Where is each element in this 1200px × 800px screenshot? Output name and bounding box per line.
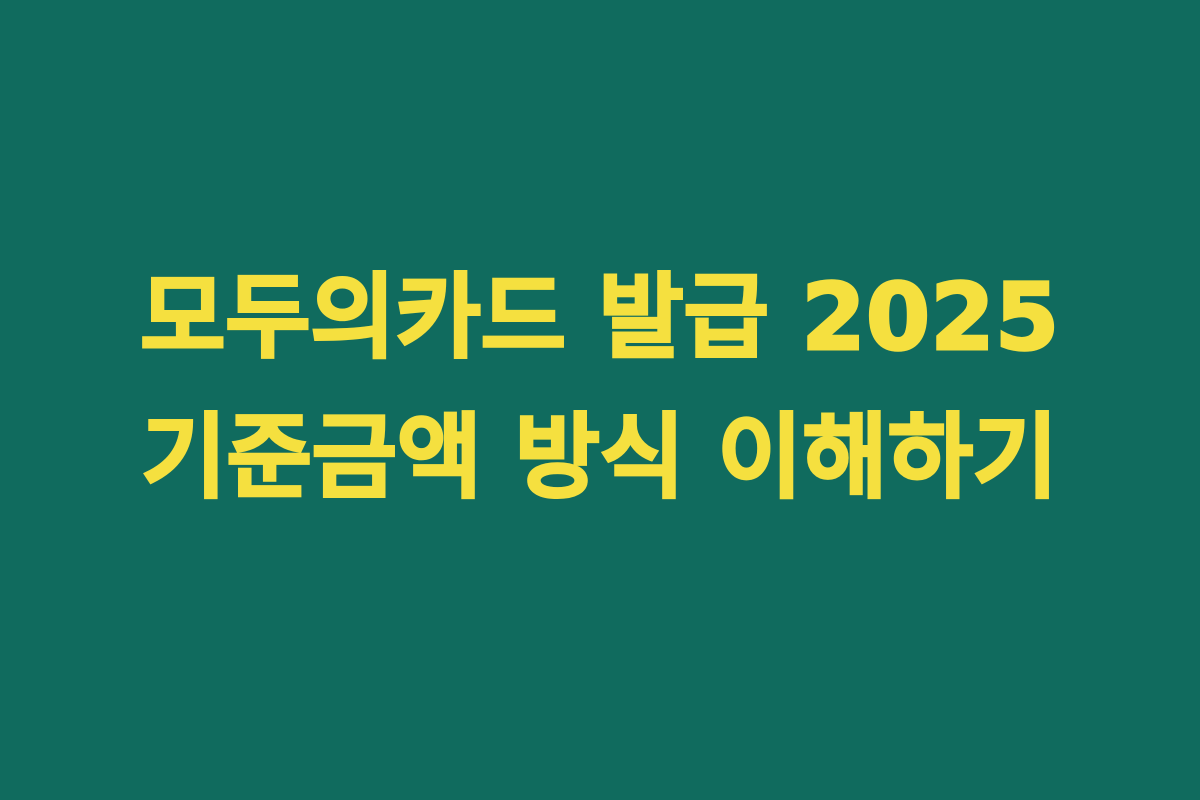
title-line-2: 기준금액 방식 이해하기 (50, 388, 1150, 528)
thumbnail-canvas: 모두의카드 발급 2025 기준금액 방식 이해하기 (0, 0, 1200, 800)
title-block: 모두의카드 발급 2025 기준금액 방식 이해하기 (50, 248, 1150, 528)
title-line-1: 모두의카드 발급 2025 (50, 248, 1150, 388)
